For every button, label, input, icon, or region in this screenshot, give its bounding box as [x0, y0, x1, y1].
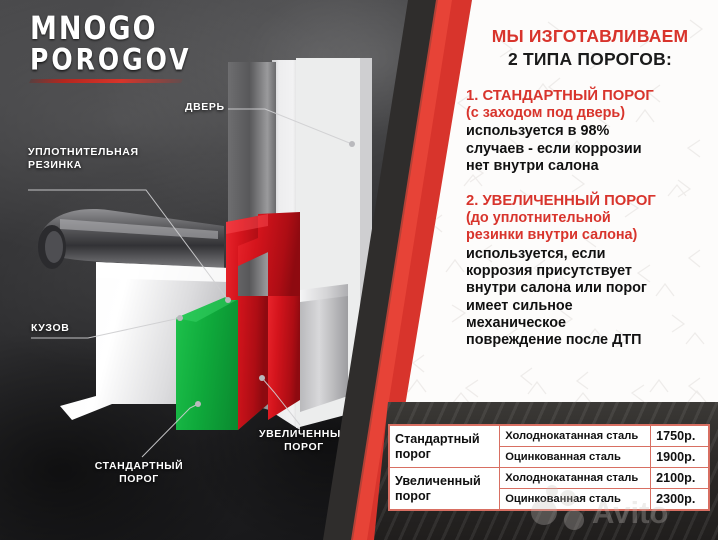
enlarged-subtitle: (до уплотнительной резинки внутри салона… — [466, 210, 714, 245]
row-type-standard: Стандартный порог — [389, 425, 500, 468]
rubber-seal — [40, 209, 224, 268]
logo-underline — [29, 79, 183, 83]
headline-line-2: 2 ТИПА ПОРОГОВ: — [466, 49, 714, 70]
price-table: Стандартный порог Холоднокатанная сталь … — [388, 424, 710, 511]
row-price: 1900р. — [651, 447, 709, 468]
rubber-seal-bore — [45, 231, 63, 263]
row-material: Холоднокатанная сталь — [500, 468, 651, 489]
label-enlarged: УВЕЛИЧЕННЫЙ ПОРОГ — [252, 428, 356, 454]
label-rubber: УПЛОТНИТЕЛЬНАЯ РЕЗИНКА — [28, 146, 139, 172]
label-body: КУЗОВ — [31, 322, 69, 335]
row-material: Холоднокатанная сталь — [500, 425, 651, 447]
enlarged-body: используется, если коррозия присутствует… — [466, 246, 714, 350]
logo-line-porogov: POROGOV — [30, 46, 220, 74]
info-content: МЫ ИЗГОТАВЛИВАЕМ 2 ТИПА ПОРОГОВ: 1. СТАН… — [466, 26, 714, 349]
row-price: 2300р. — [651, 489, 709, 511]
headline-line-1: МЫ ИЗГОТАВЛИВАЕМ — [466, 26, 714, 47]
door-panel-shade — [360, 58, 372, 412]
standard-body: используется в 98% случаев - если корроз… — [466, 123, 714, 175]
standard-subtitle: (с заходом под дверь) — [466, 105, 714, 122]
logo-line-mnogo: MNOGO — [30, 14, 220, 45]
type-block-enlarged: 2. УВЕЛИЧЕННЫЙ ПОРОГ (до уплотнительной … — [466, 193, 714, 349]
row-type-enlarged: Увеличенный порог — [389, 468, 500, 511]
brand-logo: MNOGO POROGOV — [30, 14, 220, 83]
enlarged-title: 2. УВЕЛИЧЕННЫЙ ПОРОГ — [466, 193, 714, 210]
standard-title: 1. СТАНДАРТНЫЙ ПОРОГ — [466, 88, 714, 105]
row-material: Оцинкованная сталь — [500, 447, 651, 468]
label-door: ДВЕРЬ — [185, 101, 225, 114]
label-standard: СТАНДАРТНЫЙ ПОРОГ — [91, 460, 187, 486]
type-block-standard: 1. СТАНДАРТНЫЙ ПОРОГ (с заходом под двер… — [466, 88, 714, 175]
row-price: 2100р. — [651, 468, 709, 489]
enlarged-sill-red-lower — [268, 296, 300, 420]
row-material: Оцинкованная сталь — [500, 489, 651, 511]
rocker-panel — [300, 290, 348, 412]
table-row: Стандартный порог Холоднокатанная сталь … — [389, 425, 709, 447]
row-price: 1750р. — [651, 425, 709, 447]
table-row: Увеличенный порог Холоднокатанная сталь … — [389, 468, 709, 489]
poster-root: ДВЕРЬ УПЛОТНИТЕЛЬНАЯ РЕЗИНКА КУЗОВ СТАНД… — [0, 0, 718, 540]
